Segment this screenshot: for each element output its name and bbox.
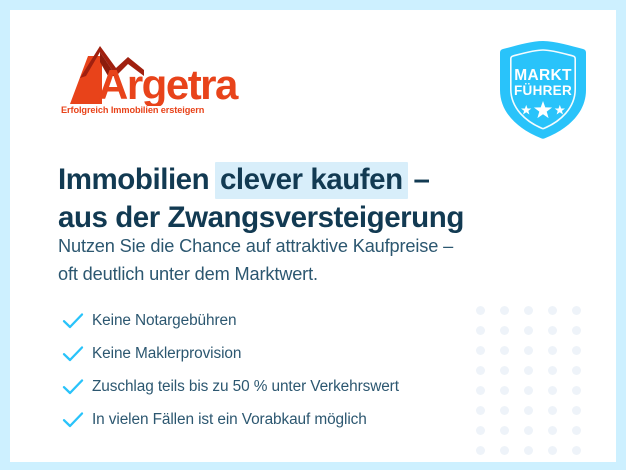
argetra-logo-mark: Argetra [58,46,288,106]
decorative-dot [476,446,485,455]
decorative-dot [548,426,557,435]
decorative-dot [548,326,557,335]
decorative-dot [524,446,533,455]
benefits-checklist: Keine Notargebühren Keine Maklerprovisio… [62,306,532,438]
check-icon [62,310,92,332]
badge-line2-text: FÜHRER [514,83,572,98]
list-item-label: Keine Notargebühren [92,312,236,330]
headline: Immobilien clever kaufen – aus der Zwang… [58,162,578,236]
subheading: Nutzen Sie die Chance auf attraktive Kau… [58,232,578,288]
headline-line2: aus der Zwangsversteigerung [58,200,578,236]
decorative-dot [572,446,581,455]
decorative-dot [572,386,581,395]
badge-line1-text: MARKT [514,67,572,84]
decorative-dot [572,366,581,375]
decorative-dot [548,386,557,395]
decorative-dot [548,406,557,415]
check-icon [62,376,92,398]
decorative-dot [572,346,581,355]
promo-banner: Argetra Erfolgreich Immobilien ersteiger… [0,0,626,470]
decorative-dot [548,446,557,455]
decorative-dot [548,346,557,355]
list-item-label: Keine Maklerprovision [92,345,241,363]
market-leader-badge: MARKT FÜHRER [493,38,593,142]
list-item-label: In vielen Fällen ist ein Vorabkauf mögli… [92,411,367,429]
banner-card: Argetra Erfolgreich Immobilien ersteiger… [10,10,616,462]
headline-highlight: clever kaufen [215,162,408,199]
list-item: Keine Notargebühren [62,306,532,336]
list-item: Zuschlag teils bis zu 50 % unter Verkehr… [62,372,532,402]
decorative-dot [572,406,581,415]
decorative-dot [548,366,557,375]
list-item-label: Zuschlag teils bis zu 50 % unter Verkehr… [92,378,399,396]
check-icon [62,409,92,431]
headline-part2: – [406,163,430,196]
decorative-dot [572,426,581,435]
subheading-line2: oft deutlich unter dem Marktwert. [58,260,578,288]
logo-tagline: Erfolgreich Immobilien ersteigern [61,105,204,115]
headline-part1: Immobilien [58,163,217,196]
decorative-dot [572,306,581,315]
decorative-dot [500,446,509,455]
list-item: In vielen Fällen ist ein Vorabkauf mögli… [62,405,532,435]
svg-text:Argetra: Argetra [98,61,239,106]
list-item: Keine Maklerprovision [62,339,532,369]
decorative-dot [572,326,581,335]
decorative-dot [548,306,557,315]
argetra-logo: Argetra Erfolgreich Immobilien ersteiger… [58,46,288,124]
check-icon [62,343,92,365]
subheading-line1: Nutzen Sie die Chance auf attraktive Kau… [58,232,578,260]
